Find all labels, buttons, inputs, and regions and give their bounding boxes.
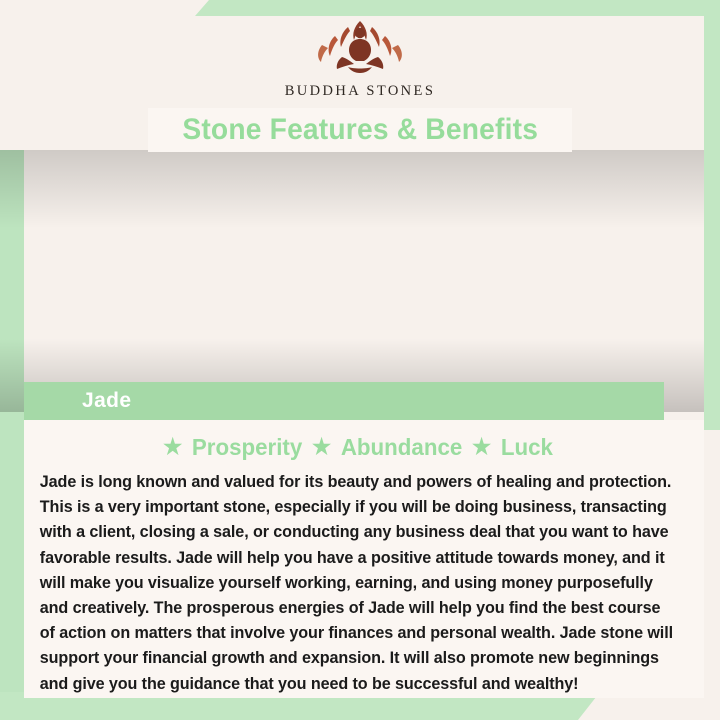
brand-header: BUDDHA STONES [0, 0, 720, 112]
star-icon: ★ [472, 436, 491, 458]
keyword-prosperity: Prosperity [192, 434, 302, 461]
keyword-luck: Luck [501, 434, 553, 461]
stone-photo [0, 150, 704, 412]
photo-vignette [0, 150, 704, 412]
title-bar: Stone Features & Benefits [148, 108, 572, 152]
page-title: Stone Features & Benefits [182, 113, 538, 147]
lotus-meditation-icon [304, 13, 416, 79]
stone-description-text: Jade is long known and valued for its be… [26, 470, 680, 697]
star-icon: ★ [312, 436, 331, 458]
stone-name-banner: Jade [24, 382, 664, 420]
star-icon: ★ [163, 436, 182, 458]
stone-name-label: Jade [82, 389, 131, 413]
brand-name: BUDDHA STONES [285, 83, 436, 100]
description-panel: ★ Prosperity ★ Abundance ★ Luck Jade is … [24, 420, 704, 698]
keyword-abundance: Abundance [341, 434, 462, 461]
keyword-list: ★ Prosperity ★ Abundance ★ Luck [36, 430, 680, 464]
